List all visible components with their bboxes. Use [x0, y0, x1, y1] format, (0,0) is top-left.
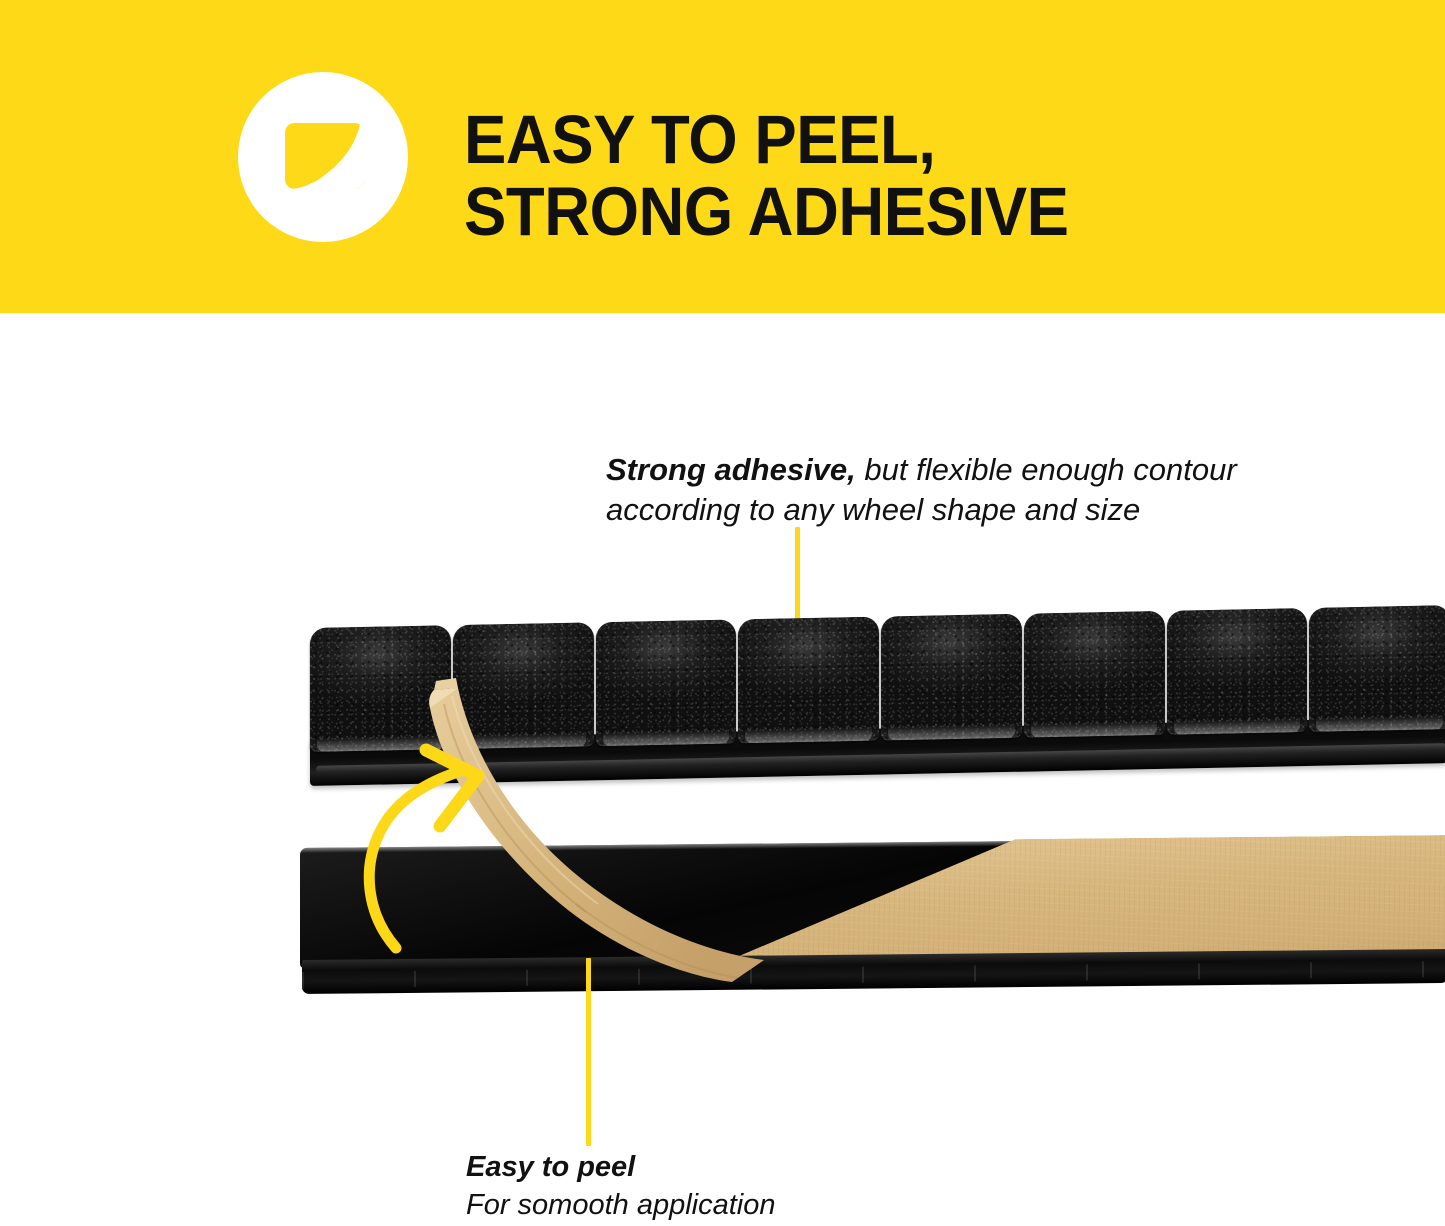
callout-easy-to-peel: Easy to peel For somooth application [466, 1148, 1026, 1224]
headline: EASY TO PEEL, STRONG ADHESIVE [464, 104, 1292, 248]
brand-logo-badge [238, 72, 408, 242]
weight-block [596, 619, 737, 746]
weight-block [738, 617, 879, 744]
headline-line-2: STRONG ADHESIVE [464, 176, 1292, 248]
wheel-weight-strip-bottom [300, 837, 1445, 998]
callout-strong-adhesive: Strong adhesive, but flexible enough con… [606, 450, 1366, 530]
headline-line-1: EASY TO PEEL, [464, 104, 1292, 176]
weight-block [1024, 611, 1165, 738]
callout-top-strong: Strong adhesive, [606, 452, 856, 487]
weight-block [310, 625, 451, 752]
callout-bottom-sub: For somooth application [466, 1186, 1026, 1224]
header-banner: EASY TO PEEL, STRONG ADHESIVE [0, 0, 1445, 313]
weight-block [1309, 605, 1445, 732]
callout-bottom-strong: Easy to peel [466, 1148, 1026, 1186]
wheel-weight-strip-top [310, 605, 1445, 800]
infographic-page: EASY TO PEEL, STRONG ADHESIVE Strong adh… [0, 0, 1445, 1226]
weight-block [453, 622, 594, 749]
product-photo [0, 600, 1445, 1040]
weight-block [1167, 608, 1308, 735]
leader-line-bottom [586, 958, 591, 1146]
peel-logo-icon [238, 72, 408, 242]
weight-block-row [310, 605, 1445, 752]
weight-block [881, 614, 1022, 741]
